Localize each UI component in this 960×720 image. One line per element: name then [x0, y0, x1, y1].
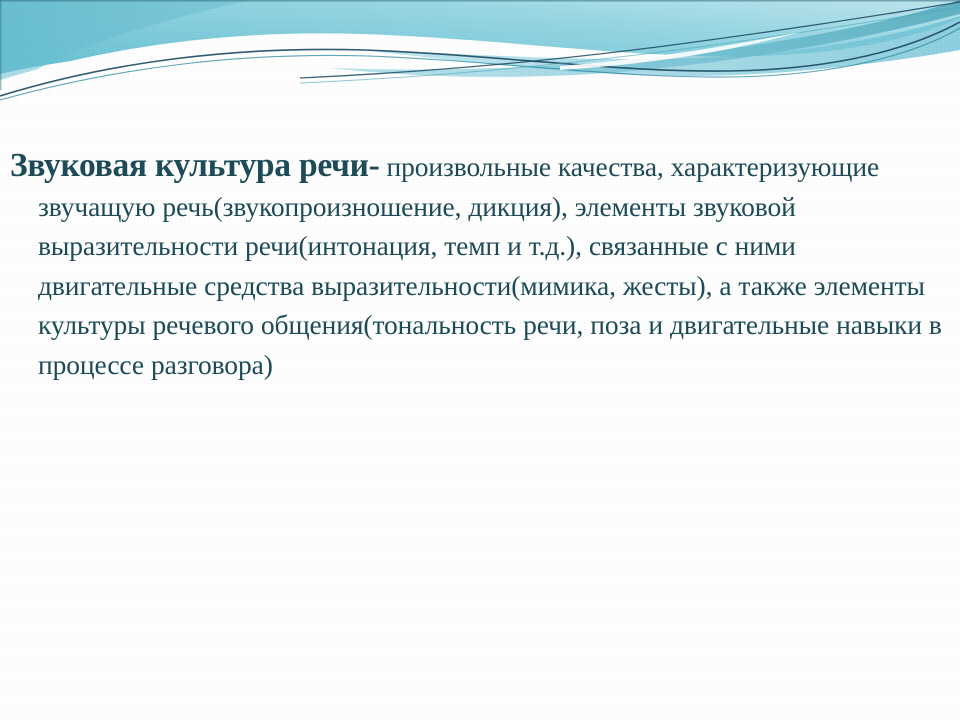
- slide-canvas: Звуковая культура речи- произвольные кач…: [0, 0, 960, 720]
- term-lead-in: Звуковая культура речи-: [10, 147, 380, 184]
- body-text-block: Звуковая культура речи- произвольные кач…: [0, 146, 960, 384]
- definition-paragraph: Звуковая культура речи- произвольные кач…: [10, 146, 946, 384]
- definition-text: произвольные качества, характеризующие з…: [38, 151, 942, 380]
- wave-banner: [0, 0, 960, 104]
